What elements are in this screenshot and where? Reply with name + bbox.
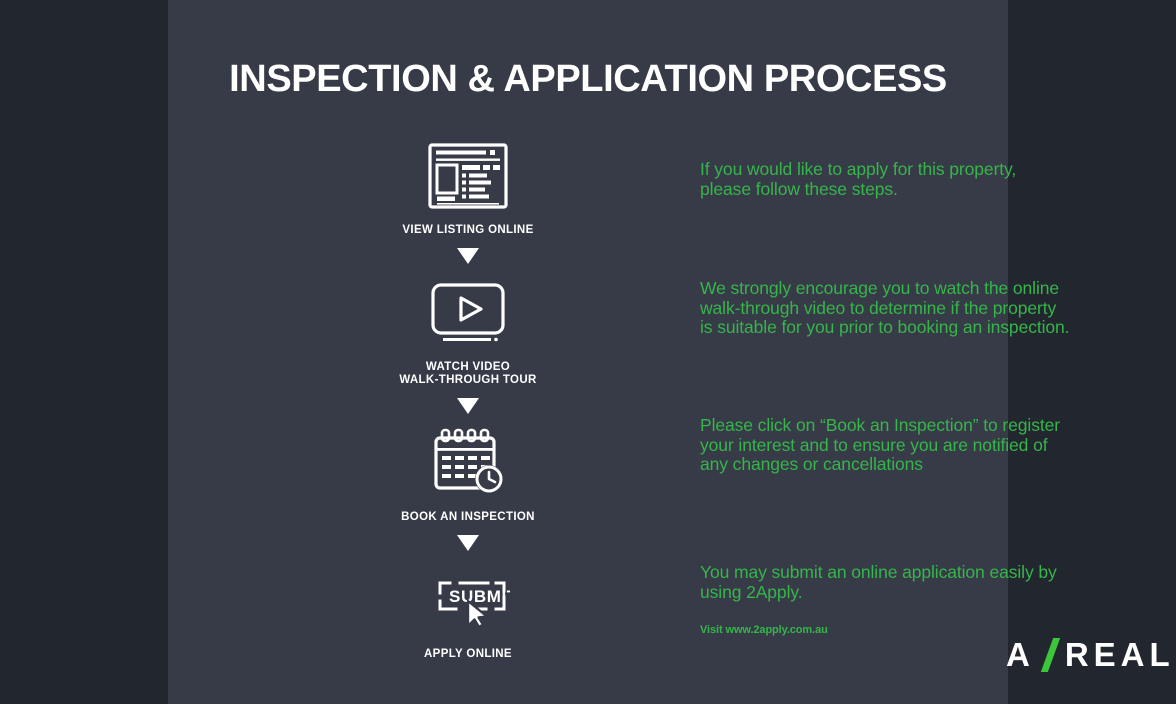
down-triangle-icon (354, 387, 582, 425)
step-book-inspection: BOOK AN INSPECTION (354, 425, 582, 524)
logo-left-text: A (1006, 636, 1035, 674)
svg-text:SUBMIT: SUBMIT (449, 587, 510, 606)
step-label: APPLY ONLINE (354, 648, 582, 661)
screenshot-stage: INSPECTION & APPLICATION PROCESS (0, 0, 1176, 704)
slash-icon (1038, 638, 1064, 672)
step-text-view-listing: If you would like to apply for this prop… (700, 160, 1016, 199)
listing-window-icon (354, 138, 582, 214)
step-watch-video: WATCH VIDEO WALK-THROUGH TOUR (354, 275, 582, 387)
step-text-book-inspection: Please click on “Book an Inspection” to … (700, 416, 1060, 475)
content-panel: INSPECTION & APPLICATION PROCESS (168, 0, 1008, 704)
logo-right-text: REAL (1065, 636, 1175, 674)
step-text-watch-video: We strongly encourage you to watch the o… (700, 279, 1069, 338)
step-apply-online: SUBMIT APPLY ONLINE (354, 562, 582, 661)
submit-button-cursor-icon: SUBMIT (354, 562, 582, 638)
down-triangle-icon (354, 237, 582, 275)
video-play-icon (354, 275, 582, 351)
page-title: INSPECTION & APPLICATION PROCESS (168, 58, 1008, 101)
step-label: BOOK AN INSPECTION (354, 511, 582, 524)
brand-logo: A REAL (1006, 636, 1175, 674)
step-view-listing-online: VIEW LISTING ONLINE (354, 138, 582, 237)
step-label: WATCH VIDEO WALK-THROUGH TOUR (354, 361, 582, 387)
step-text-apply-online: You may submit an online application eas… (700, 563, 1057, 602)
calendar-clock-icon (354, 425, 582, 501)
down-triangle-icon (354, 524, 582, 562)
steps-column: VIEW LISTING ONLINE WATCH VIDEO WALK-THR… (354, 138, 582, 661)
step-label: VIEW LISTING ONLINE (354, 224, 582, 237)
visit-link-text[interactable]: Visit www.2apply.com.au (700, 624, 828, 636)
